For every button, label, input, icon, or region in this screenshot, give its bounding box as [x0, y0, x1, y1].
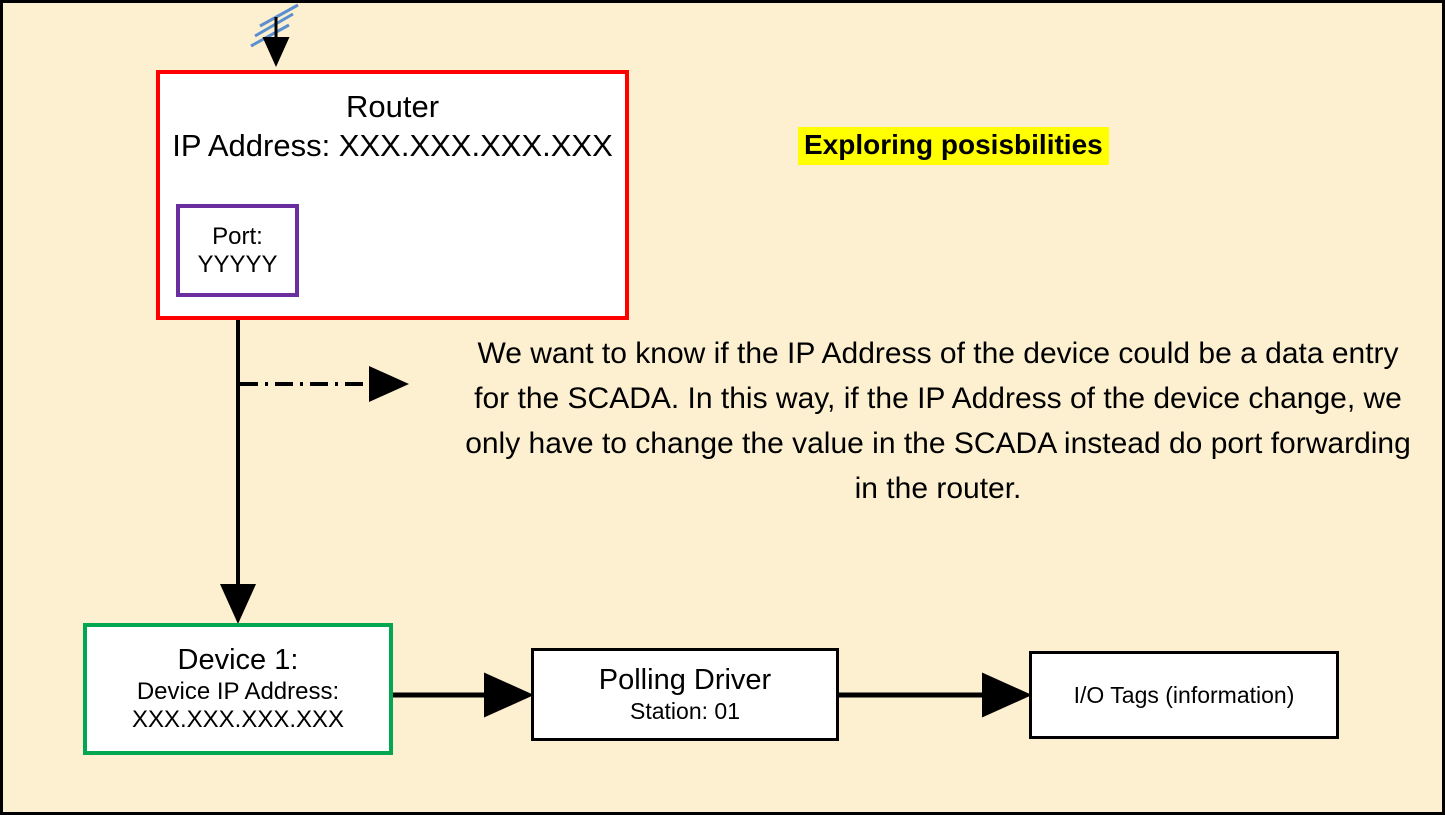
io-tags-node[interactable]: I/O Tags (information): [1029, 651, 1339, 739]
io-tags-label: I/O Tags (information): [1074, 682, 1295, 709]
router-ip-address: IP Address: XXX.XXX.XXX.XXX: [172, 127, 613, 166]
diagram-canvas: Router IP Address: XXX.XXX.XXX.XXX Port:…: [0, 0, 1445, 815]
device-title: Device 1:: [178, 643, 299, 678]
signal-lines-icon: [251, 5, 298, 46]
polling-driver-node[interactable]: Polling Driver Station: 01: [531, 648, 839, 741]
device-ip-label: Device IP Address:: [137, 678, 339, 707]
polling-driver-title: Polling Driver: [599, 663, 771, 698]
router-port-node[interactable]: Port: YYYYY: [176, 204, 299, 297]
device-ip-value: XXX.XXX.XXX.XXX: [132, 706, 344, 735]
polling-driver-station: Station: 01: [630, 698, 740, 726]
port-value: YYYYY: [197, 251, 277, 279]
port-label: Port:: [212, 223, 263, 251]
explanation-text: We want to know if the IP Address of the…: [458, 331, 1418, 511]
page-title: Exploring posisbilities: [798, 127, 1109, 165]
device-node[interactable]: Device 1: Device IP Address: XXX.XXX.XXX…: [83, 623, 393, 755]
router-title: Router: [346, 88, 439, 127]
